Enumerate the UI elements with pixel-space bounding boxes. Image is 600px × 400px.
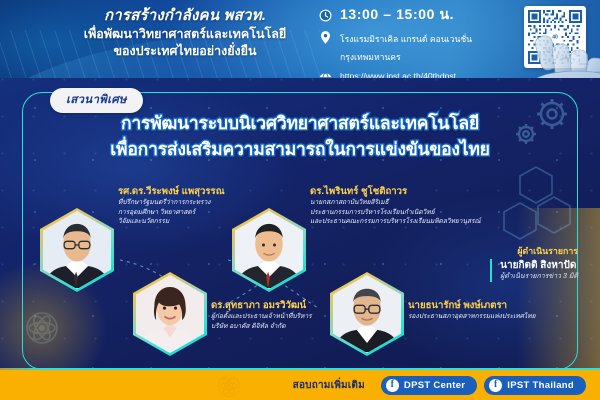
facebook-button-ipst-thailand-label: IPST Thailand [507, 380, 574, 391]
speaker-4-role-line1: รองประธานสภาอุตสาหกรรมแห่งประเทศไทย [408, 312, 535, 322]
speaker-3-role-line2: บริษัท อบาคัส ดิจิทัล จำกัด [211, 322, 312, 332]
speaker-4-info: นายธนารักษ์ พงษ์เภตรา รองประธานสภาอุตสาห… [408, 300, 535, 322]
atom-icon [22, 308, 62, 348]
speaker-card-3: ดร.สุทธาภา อมรวิวัฒน์ ผู้ก่อตั้งและประธา… [133, 272, 207, 356]
speaker-2-name: ดร.ไพรินทร์ ชูโชติถาวร [310, 186, 481, 198]
speaker-2-info: ดร.ไพรินทร์ ชูโชติถาวร นายกสภาสถาบันวิทย… [310, 186, 481, 227]
clock-icon [318, 8, 333, 23]
session-main-title: การพัฒนาระบบนิเวศวิทยาศาสตร์และเทคโนโลยี… [40, 110, 560, 163]
speaker-1-name: รศ.ดร.วีระพงษ์ แพสุวรรณ [118, 186, 225, 198]
speaker-card-1: รศ.ดร.วีระพงษ์ แพสุวรรณ ที่ปรึกษารัฐมนตร… [40, 208, 114, 292]
event-time-row: 13:00 – 15:00 น. [318, 7, 472, 23]
location-pin-icon [318, 30, 333, 45]
moderator-block: ผู้ดำเนินรายการ นายกิตติ สิงหาปัด ผู้ดำเ… [490, 246, 578, 283]
event-poster: การสร้างกำลังคน พสวท. เพื่อพัฒนาวิทยาศาส… [0, 0, 600, 400]
speaker-card-4: นายธนารักษ์ พงษ์เภตรา รองประธานสภาอุตสาห… [330, 272, 404, 356]
facebook-button-ipst-thailand[interactable]: f IPST Thailand [484, 376, 586, 395]
speaker-1-role-line2: การอุดมศึกษา วิทยาศาสตร์ [118, 208, 225, 218]
speaker-3-name: ดร.สุทธาภา อมรวิวัฒน์ [211, 300, 312, 312]
speaker-2-role-line1: นายกสภาสถาบันวิทยสิริเมธี [310, 198, 481, 208]
speaker-2-role-line3: และประธานคณะกรรมการบริหารโรงเรียนมหิดลวิ… [310, 217, 481, 227]
session-title-line2: เพื่อการส่งเสริมความสามารถในการแข่งขันขอ… [40, 136, 560, 162]
facebook-button-dpst-center[interactable]: f DPST Center [381, 376, 477, 395]
footer-bar: สอบถามเพิ่มเติม f DPST Center f IPST Tha… [0, 370, 600, 400]
speaker-1-role-line3: วิจัยและนวัตกรรม [118, 217, 225, 227]
speaker-card-2: ดร.ไพรินทร์ ชูโชติถาวร นายกสภาสถาบันวิทย… [232, 208, 306, 292]
facebook-icon: f [489, 379, 502, 392]
hexagon-molecule-decoration [500, 164, 578, 250]
speaker-2-photo [232, 208, 306, 292]
event-venue-text: โรงแรมมิราเคิล แกรนด์ คอนเวนชั่น กรุงเทพ… [340, 29, 472, 65]
atom-watermark-icon [216, 373, 242, 399]
speaker-1-photo [40, 208, 114, 292]
moderator-role: ผู้ดำเนินรายการข่าว 3 มิติ [500, 272, 578, 282]
session-title-line1: การพัฒนาระบบนิเวศวิทยาศาสตร์และเทคโนโลยี [40, 110, 560, 136]
header-title-line3: ของประเทศไทยอย่างยั่งยืน [40, 43, 330, 60]
venue-line1: โรงแรมมิราเคิล แกรนด์ คอนเวนชั่น [340, 34, 472, 44]
speaker-4-photo [330, 272, 404, 356]
moderator-details: นายกิตติ สิงหาปัด ผู้ดำเนินรายการข่าว 3 … [490, 259, 578, 282]
event-time-text: 13:00 – 15:00 น. [340, 7, 454, 22]
venue-line2: กรุงเทพมหานคร [340, 52, 401, 62]
speaker-3-photo [133, 272, 207, 356]
facebook-icon: f [386, 379, 399, 392]
header-title-line2: เพื่อพัฒนาวิทยาศาสตร์และเทคโนโลยี [40, 26, 330, 43]
footer-contact-label: สอบถามเพิ่มเติม [293, 378, 365, 393]
event-venue-row: โรงแรมมิราเคิล แกรนด์ คอนเวนชั่น กรุงเทพ… [318, 29, 472, 65]
moderator-name: นายกิตติ สิงหาปัด [500, 259, 578, 272]
qr-center-logo: 40 [549, 32, 562, 43]
speaker-1-info: รศ.ดร.วีระพงษ์ แพสุวรรณ ที่ปรึกษารัฐมนตร… [118, 186, 225, 227]
moderator-label: ผู้ดำเนินรายการ [490, 246, 578, 257]
event-header-title: การสร้างกำลังคน พสวท. เพื่อพัฒนาวิทยาศาส… [40, 6, 330, 60]
facebook-button-dpst-center-label: DPST Center [404, 380, 465, 391]
speaker-2-role-line2: ประธานกรรมการบริหารโรงเรียนกำเนิดวิทย์ [310, 208, 481, 218]
speaker-3-role-line1: ผู้ก่อตั้งและประธานเจ้าหน้าที่บริหาร [211, 312, 312, 322]
speaker-4-name: นายธนารักษ์ พงษ์เภตรา [408, 300, 535, 312]
speaker-3-info: ดร.สุทธาภา อมรวิวัฒน์ ผู้ก่อตั้งและประธา… [211, 300, 312, 331]
header-title-line1: การสร้างกำลังคน พสวท. [40, 6, 330, 26]
speaker-1-role-line1: ที่ปรึกษารัฐมนตรีว่าการกระทรวง [118, 198, 225, 208]
qr-code[interactable]: 40 [524, 6, 586, 68]
